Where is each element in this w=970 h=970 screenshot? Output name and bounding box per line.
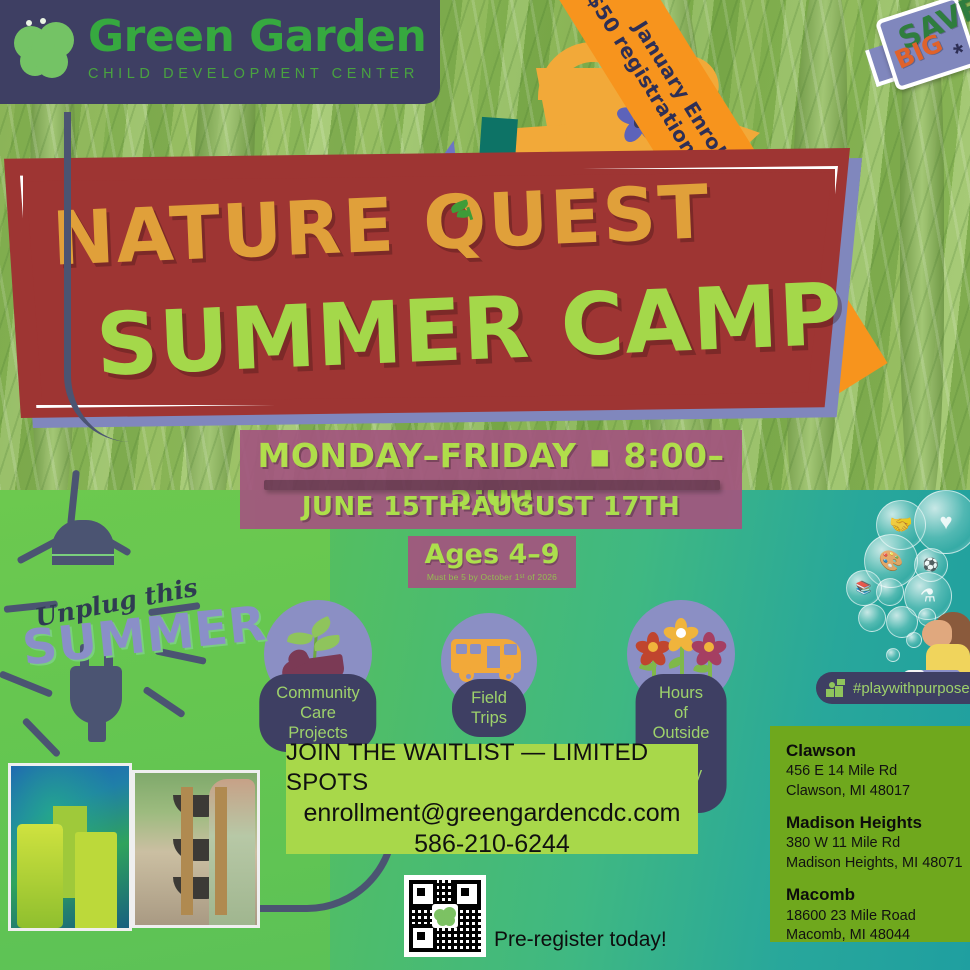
- ages-fine-print: Must be 5 by October 1ˢᵗ of 2026: [408, 572, 576, 582]
- brand-logo-bar: Green Garden CHILD DEVELOPMENT CENTER: [0, 0, 440, 104]
- cta-email[interactable]: enrollment@greengardencdc.com: [304, 798, 681, 829]
- child-playing-blocks-icon: [826, 679, 846, 697]
- hashtag-text: #playwithpurpose: [853, 680, 970, 697]
- ages-label: Ages 4–9: [408, 539, 576, 570]
- schedule-dates: JUNE 15TH-AUGUST 17TH: [240, 492, 742, 522]
- qr-caption: Pre-register today!: [494, 928, 667, 952]
- save-badge-star: *: [950, 37, 969, 70]
- schedule-box: MONDAY–FRIDAY ▪ 8:00–5:00 JUNE 15TH-AUGU…: [240, 430, 742, 529]
- brand-tagline: CHILD DEVELOPMENT CENTER: [88, 66, 426, 82]
- unplug-graphic: Unplug this SUMMER: [0, 480, 240, 780]
- cord-decoration: [64, 112, 131, 442]
- location-item: Madison Heights 380 W 11 Mile Rd Madison…: [786, 812, 970, 873]
- cta-headline: JOIN THE WAITLIST — LIMITED SPOTS: [286, 738, 698, 798]
- location-city-state-zip: Madison Heights, MI 48071: [786, 854, 970, 874]
- qr-center-logo: [432, 904, 458, 928]
- location-city-state-zip: Macomb, MI 48044: [786, 926, 970, 946]
- location-street: 456 E 14 Mile Rd: [786, 762, 970, 782]
- location-item: Macomb 18600 23 Mile Road Macomb, MI 480…: [786, 884, 970, 945]
- butterfly-leaf-icon: [14, 18, 74, 80]
- location-street: 380 W 11 Mile Rd: [786, 834, 970, 854]
- location-name: Clawson: [786, 740, 970, 762]
- hashtag-badge: #playwithpurpose: [816, 672, 970, 704]
- brand-name: Green Garden: [88, 15, 426, 59]
- location-name: Macomb: [786, 884, 970, 906]
- cta-phone[interactable]: 586-210-6244: [414, 829, 570, 860]
- children-water-play-structure-photo: [132, 770, 260, 928]
- location-name: Madison Heights: [786, 812, 970, 834]
- ages-box: Ages 4–9 Must be 5 by October 1ˢᵗ of 202…: [408, 536, 576, 588]
- locations-panel: Clawson 456 E 14 Mile Rd Clawson, MI 480…: [770, 726, 970, 942]
- location-item: Clawson 456 E 14 Mile Rd Clawson, MI 480…: [786, 740, 970, 801]
- camp-flyer: Green Garden CHILD DEVELOPMENT CENTER Ja…: [0, 0, 970, 970]
- feature-label: Field Trips: [452, 679, 526, 737]
- cta-box: JOIN THE WAITLIST — LIMITED SPOTS enroll…: [286, 744, 698, 854]
- unplugged-cord-icon: [52, 520, 114, 564]
- feature-outside-play: Hours of Outside Play Every Day: [598, 600, 764, 725]
- location-city-state-zip: Clawson, MI 48017: [786, 782, 970, 802]
- schedule-divider: [264, 480, 720, 490]
- child-blowing-bubbles-icon: 🤝 ♥ 🎨 ⚽ 📚 ⚗: [842, 486, 970, 682]
- children-in-safety-vests-photo: [8, 763, 132, 931]
- feature-field-trips: Field Trips: [415, 613, 563, 728]
- location-street: 18600 23 Mile Road: [786, 907, 970, 927]
- qr-code-icon[interactable]: [404, 875, 486, 957]
